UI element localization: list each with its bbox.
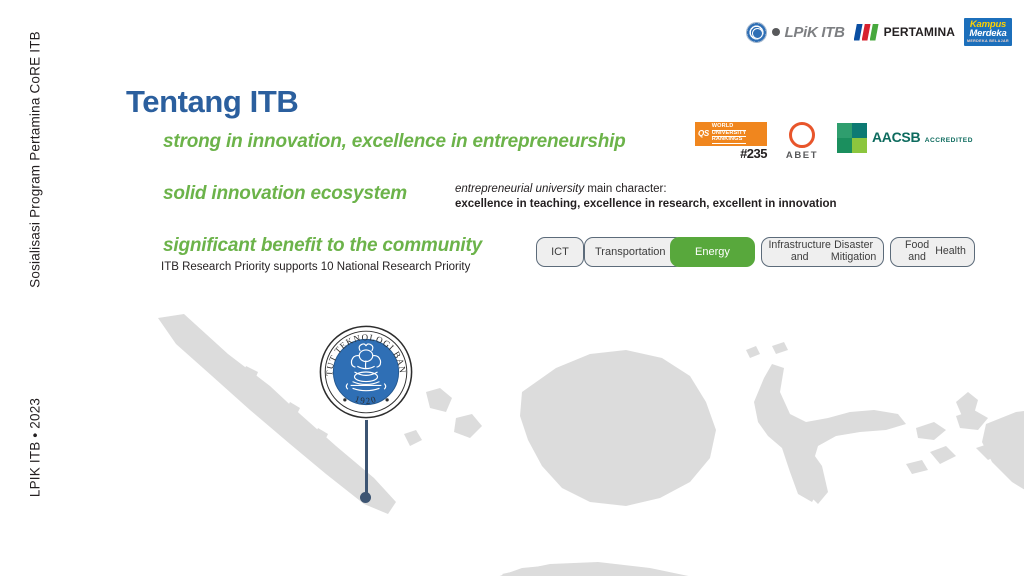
qs-badge-box: QS WORLD UNIVERSITY RANKINGS bbox=[695, 122, 767, 146]
rail-footer-label: LPIK ITB • 2023 bbox=[28, 398, 43, 497]
ecosystem-note-line1: entrepreneurial university main characte… bbox=[455, 182, 837, 197]
research-priority-pills: ICT Transportation Energy Infrastructure… bbox=[536, 237, 975, 267]
lpik-wordmark: LPiK ITB bbox=[785, 24, 845, 41]
pill-infrastructure-disaster-mitigation[interactable]: Infrastructure and Disaster Mitigation bbox=[761, 237, 884, 267]
itb-seal-icon bbox=[746, 22, 767, 43]
aacsb-status: ACCREDITED bbox=[925, 137, 973, 144]
aacsb-badge: AACSB ACCREDITED bbox=[837, 123, 973, 153]
map-pin-stem bbox=[365, 408, 368, 496]
lpik-dot-icon bbox=[772, 28, 780, 36]
rail-deck-title: Sosialisasi Program Pertamina CoRE ITB bbox=[28, 31, 43, 288]
pill-ict[interactable]: ICT bbox=[536, 237, 584, 267]
pertamina-wordmark: PERTAMINA bbox=[884, 25, 955, 39]
qs-ranking-badge: QS WORLD UNIVERSITY RANKINGS #235 bbox=[695, 122, 767, 160]
qs-mark-icon: QS bbox=[698, 130, 709, 138]
kampus-line3: MERDEKA BELAJAR bbox=[967, 40, 1009, 44]
ecosystem-note: entrepreneurial university main characte… bbox=[455, 182, 837, 211]
slide-tentang-itb: Sosialisasi Program Pertamina CoRE ITB L… bbox=[0, 0, 1024, 576]
indonesia-map-svg bbox=[150, 306, 1024, 576]
itb-seal: INSTITUT TEKNOLOGI BANDUNG 1920 bbox=[318, 324, 414, 420]
pill-food-line2: Health bbox=[935, 246, 966, 258]
qs-badge-lines: WORLD UNIVERSITY RANKINGS bbox=[712, 124, 747, 144]
headline-ecosystem: solid innovation ecosystem bbox=[163, 183, 407, 205]
qs-line-rankings: RANKINGS bbox=[712, 137, 747, 144]
map-pin-dot bbox=[360, 492, 371, 503]
aacsb-text: AACSB ACCREDITED bbox=[872, 129, 973, 147]
lpik-logo: LPiK ITB bbox=[746, 22, 845, 43]
pill-transportation[interactable]: Transportation bbox=[584, 237, 684, 267]
abet-label: ABET bbox=[781, 150, 823, 161]
page-title: Tentang ITB bbox=[126, 84, 298, 120]
side-rail: Sosialisasi Program Pertamina CoRE ITB L… bbox=[0, 0, 70, 576]
headline-community: significant benefit to the community bbox=[163, 235, 482, 257]
ecosystem-note-rest: main character: bbox=[584, 183, 666, 195]
header-logo-strip: LPiK ITB PERTAMINA Kampus Merdeka MERDEK… bbox=[746, 17, 1012, 47]
ecosystem-note-line2: excellence in teaching, excellence in re… bbox=[455, 197, 837, 212]
aacsb-grid-icon bbox=[837, 123, 867, 153]
aacsb-name: AACSB bbox=[872, 129, 920, 145]
pertamina-logo: PERTAMINA bbox=[854, 24, 955, 41]
kampus-merdeka-logo: Kampus Merdeka MERDEKA BELAJAR bbox=[964, 18, 1012, 47]
headline-innovation: strong in innovation, excellence in entr… bbox=[163, 131, 626, 153]
map-pin-bandung[interactable]: INSTITUT TEKNOLOGI BANDUNG 1920 bbox=[318, 324, 414, 506]
accreditation-badges: QS WORLD UNIVERSITY RANKINGS #235 ABET A… bbox=[695, 122, 973, 160]
pill-infrastructure-line1: Infrastructure and bbox=[768, 240, 830, 264]
pill-food-line1: Food and bbox=[899, 240, 935, 264]
indonesia-map bbox=[150, 306, 1024, 576]
pill-infrastructure-line2: Disaster Mitigation bbox=[831, 240, 876, 264]
pill-food-health[interactable]: Food and Health bbox=[890, 237, 975, 267]
qs-rank-value: #235 bbox=[695, 147, 767, 160]
abet-ring-icon bbox=[789, 122, 815, 148]
ecosystem-note-emphasis: entrepreneurial university bbox=[455, 183, 584, 195]
priority-note: ITB Research Priority supports 10 Nation… bbox=[161, 261, 470, 273]
pill-energy[interactable]: Energy bbox=[670, 237, 755, 267]
kampus-line2: Merdeka bbox=[967, 29, 1009, 39]
map-landmass-group bbox=[158, 314, 1024, 576]
pertamina-arrow-icon bbox=[854, 24, 880, 41]
abet-badge: ABET bbox=[781, 122, 823, 161]
